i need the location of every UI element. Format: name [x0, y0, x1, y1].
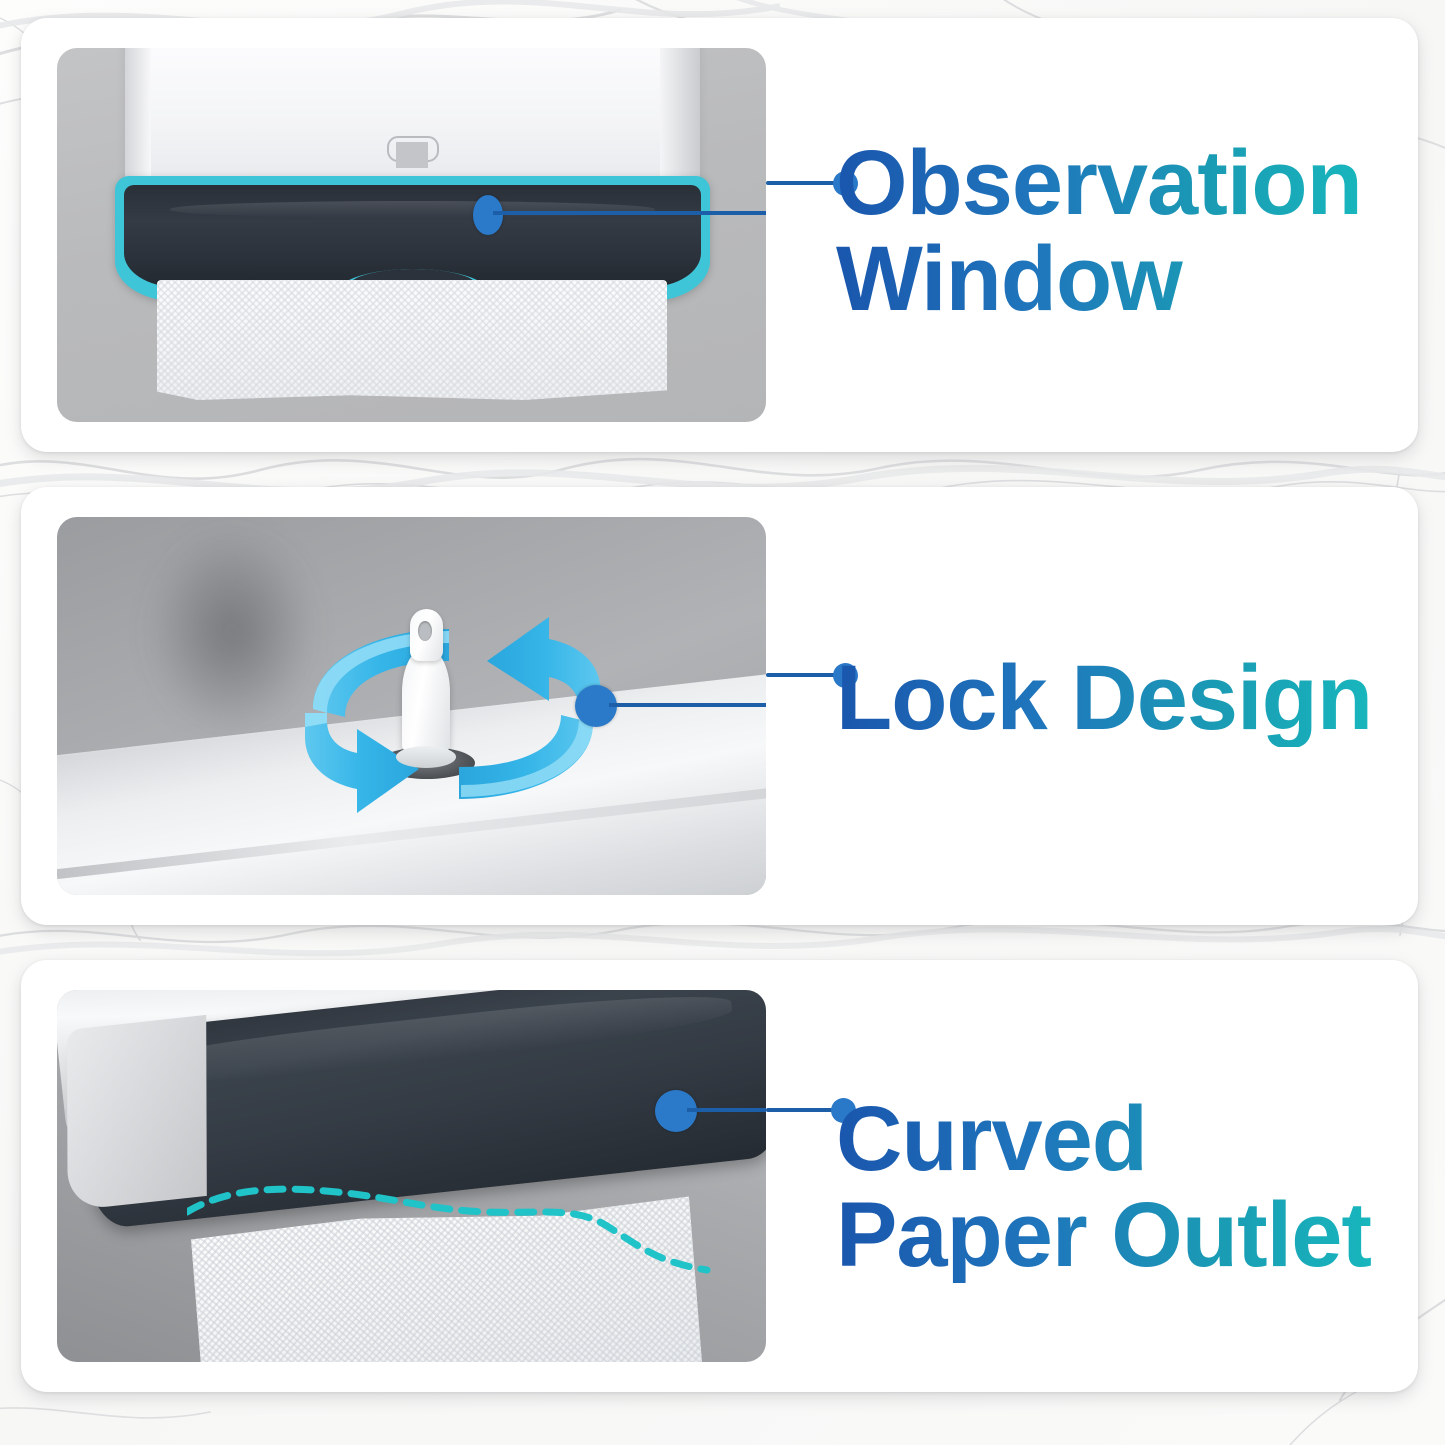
connector-line — [766, 1108, 834, 1112]
lock-key — [394, 609, 458, 761]
callout-anchor-dot — [473, 195, 503, 235]
connector-line — [766, 673, 836, 677]
key-base-flange — [396, 746, 456, 768]
feature-label-lock-design: Lock Design — [836, 651, 1372, 747]
feature-label-observation-window: Observation Window — [836, 136, 1362, 327]
product-photo-curved-paper-outlet — [57, 990, 766, 1362]
product-photo-observation-window — [57, 48, 766, 422]
callout-line-inner — [687, 1108, 766, 1112]
key-body — [402, 647, 450, 755]
infographic-stage: Observation Window — [0, 0, 1445, 1445]
outlet-left-lip — [67, 1015, 207, 1211]
brand-badge-icon — [387, 136, 439, 162]
callout-line-inner — [493, 211, 766, 215]
connector-line — [766, 181, 836, 185]
product-photo-lock-design — [57, 517, 766, 895]
curved-outlet-dashed-line — [187, 1170, 747, 1290]
paper-towel-sheet — [157, 280, 667, 400]
callout-line-inner — [609, 703, 766, 707]
feature-label-curved-paper-outlet: Curved Paper Outlet — [836, 1092, 1371, 1283]
key-eyelet — [418, 621, 432, 641]
